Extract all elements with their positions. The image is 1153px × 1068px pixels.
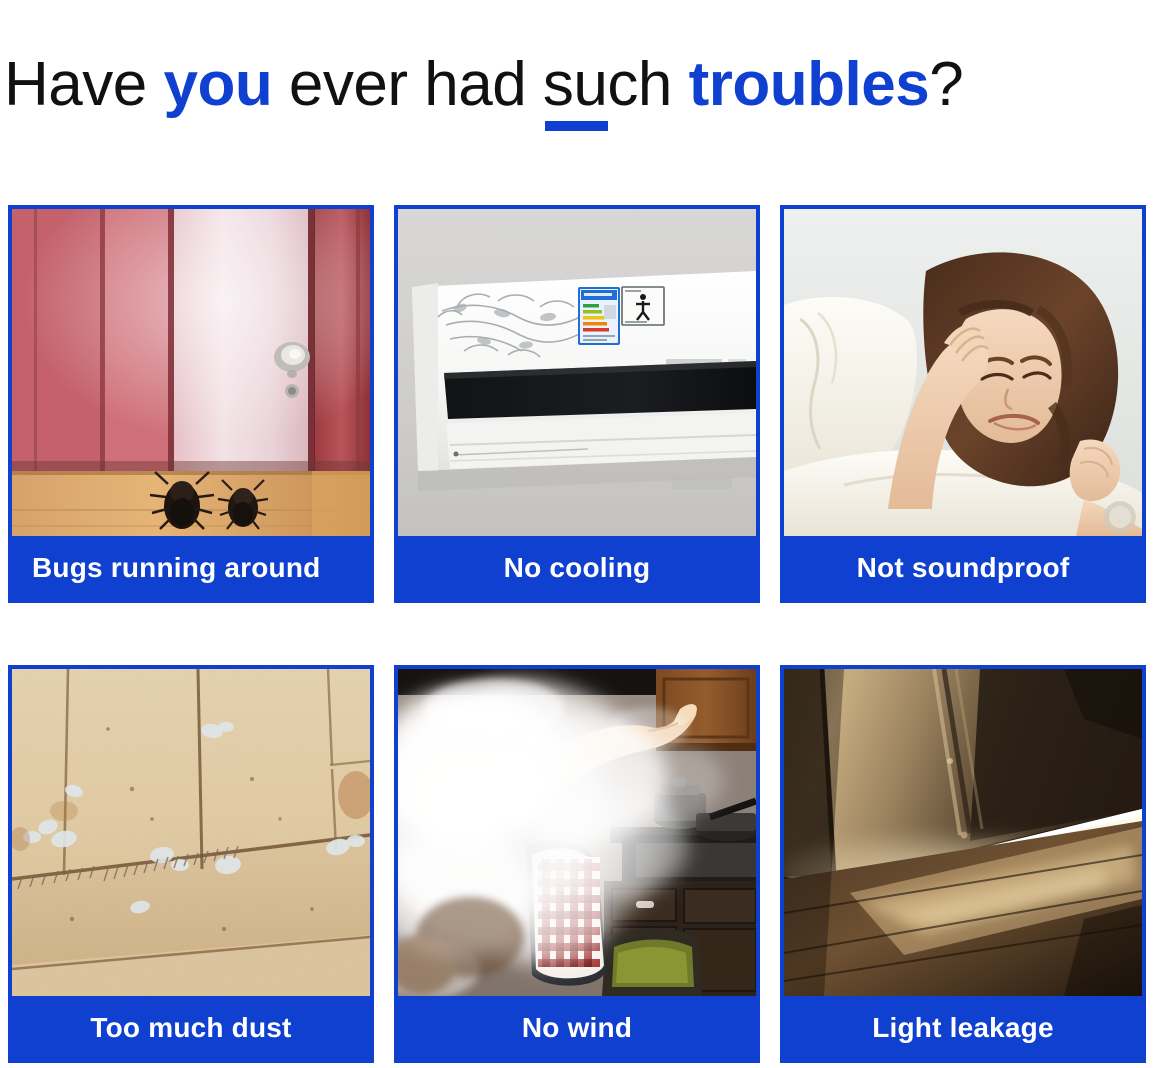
card-caption: Not soundproof [784,536,1142,599]
woman-covering-ears-in-bed-photo [784,209,1142,536]
red-door-with-cockroaches-photo [12,209,370,536]
smoky-kitchen-photo [398,669,756,996]
trouble-card[interactable]: Too much dust [8,665,374,1063]
headline-part-5: ? [929,50,963,119]
dusty-floorboards-illustration [12,669,370,996]
light-under-door-gap-photo [784,669,1142,996]
card-caption: Bugs running around [12,536,370,599]
light-leakage-illustration [784,669,1142,996]
trouble-card-grid: Bugs running around [8,205,1148,1063]
trouble-card[interactable]: Light leakage [780,665,1146,1063]
headline-part-1: Have [4,50,163,119]
headline-part-3: ever had such [272,50,688,119]
red-door-with-cockroaches-illustration [12,209,370,536]
trouble-card[interactable]: Bugs running around [8,205,374,603]
card-caption: Light leakage [784,996,1142,1059]
wall-split-air-conditioner-photo [398,209,756,536]
accent-divider [545,121,608,131]
trouble-card[interactable]: No wind [394,665,760,1063]
card-caption: Too much dust [12,996,370,1059]
trouble-card[interactable]: Not soundproof [780,205,1146,603]
card-caption: No cooling [398,536,756,599]
dusty-wooden-floorboards-photo [12,669,370,996]
headline-part-4: troubles [689,50,930,119]
woman-covering-ears-illustration [784,209,1142,536]
air-conditioner-illustration [398,209,756,536]
trouble-card[interactable]: No cooling [394,205,760,603]
divider-container [0,112,1153,140]
smoky-kitchen-illustration [398,669,756,996]
card-caption: No wind [398,996,756,1059]
headline-part-2: you [163,50,272,119]
